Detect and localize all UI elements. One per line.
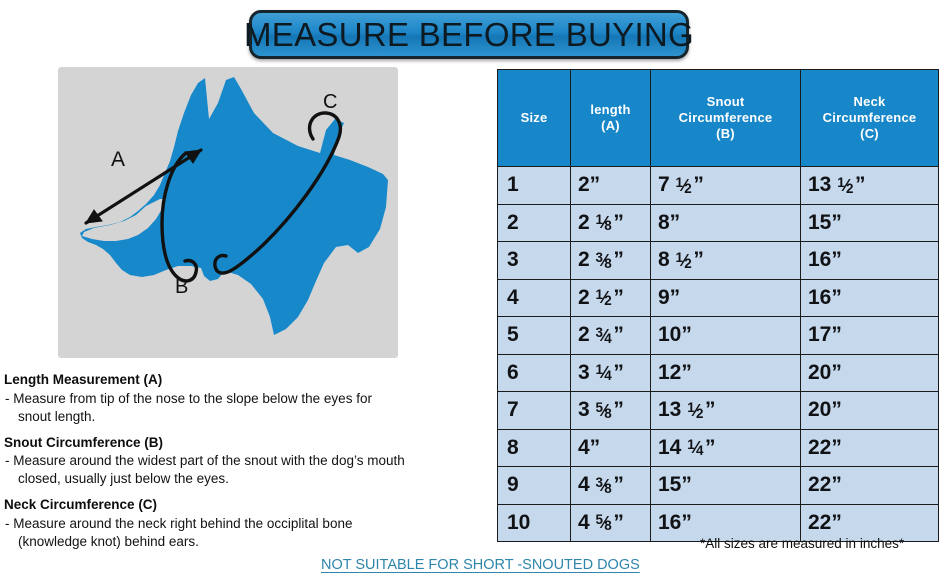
cell-length: 4”: [571, 429, 651, 467]
cell-length: 3 1⁄4”: [571, 354, 651, 392]
table-row: 84”14 1⁄4”22”: [498, 429, 939, 467]
header-line: (A): [601, 118, 620, 133]
cell-length: 2 1⁄2”: [571, 279, 651, 317]
cell-neck-circumference: 13 1⁄2”: [801, 167, 939, 205]
column-header-snout-circumference: Snout Circumference (B): [651, 70, 801, 167]
page-title: MEASURE BEFORE BUYING: [244, 16, 694, 54]
header-line: (C): [860, 126, 879, 141]
column-header-size: Size: [498, 70, 571, 167]
table-row: 52 3⁄4”10”17”: [498, 317, 939, 355]
label-c-text: C: [323, 91, 337, 113]
instruction-line1-neck: - Measure around the neck right behind t…: [5, 516, 352, 531]
cell-size: 7: [498, 392, 571, 430]
instruction-title-length: Length Measurement (A): [4, 372, 484, 389]
cell-length: 2”: [571, 167, 651, 205]
cell-length: 2 3⁄4”: [571, 317, 651, 355]
cell-size: 1: [498, 167, 571, 205]
instruction-body-neck: - Measure around the neck right behind t…: [4, 515, 484, 551]
cell-length: 2 3⁄8”: [571, 242, 651, 280]
header-line: Neck: [854, 94, 886, 109]
cell-neck-circumference: 16”: [801, 242, 939, 280]
cell-snout-circumference: 8”: [651, 204, 801, 242]
cell-neck-circumference: 22”: [801, 429, 939, 467]
table-row: 73 5⁄8”13 1⁄2”20”: [498, 392, 939, 430]
table-row: 63 1⁄4”12”20”: [498, 354, 939, 392]
instruction-line1-snout: - Measure around the widest part of the …: [5, 453, 405, 468]
dog-head-diagram-svg: A B C: [58, 67, 398, 358]
cell-size: 8: [498, 429, 571, 467]
size-chart-table: Size length (A) Snout Circumference (B) …: [497, 69, 939, 542]
cell-neck-circumference: 22”: [801, 467, 939, 505]
cell-size: 5: [498, 317, 571, 355]
all-sizes-inches-note: *All sizes are measured in inches*: [700, 536, 904, 551]
table-row: 12”7 1⁄2”13 1⁄2”: [498, 167, 939, 205]
cell-length: 4 5⁄8”: [571, 504, 651, 542]
dog-head-silhouette: [80, 77, 388, 335]
header-line: Snout: [707, 94, 745, 109]
cell-snout-circumference: 13 1⁄2”: [651, 392, 801, 430]
cell-neck-circumference: 20”: [801, 354, 939, 392]
cell-size: 10: [498, 504, 571, 542]
measurement-instructions: Length Measurement (A) - Measure from ti…: [4, 372, 484, 560]
cell-neck-circumference: 20”: [801, 392, 939, 430]
instruction-line1-length: - Measure from tip of the nose to the sl…: [5, 391, 372, 406]
cell-length: 3 5⁄8”: [571, 392, 651, 430]
cell-snout-circumference: 14 1⁄4”: [651, 429, 801, 467]
cell-length: 2 1⁄8”: [571, 204, 651, 242]
table-header-row: Size length (A) Snout Circumference (B) …: [498, 70, 939, 167]
label-b-text: B: [175, 276, 188, 298]
table-row: 94 3⁄8”15”22”: [498, 467, 939, 505]
column-header-neck-circumference: Neck Circumference (C): [801, 70, 939, 167]
instruction-block-length: Length Measurement (A) - Measure from ti…: [4, 372, 484, 426]
cell-size: 2: [498, 204, 571, 242]
header-line: length: [590, 102, 630, 117]
header-line: Circumference: [679, 110, 773, 125]
header-line: (B): [716, 126, 735, 141]
not-suitable-link[interactable]: NOT SUITABLE FOR SHORT -SNOUTED DOGS: [321, 557, 640, 573]
cell-snout-circumference: 8 1⁄2”: [651, 242, 801, 280]
cell-snout-circumference: 7 1⁄2”: [651, 167, 801, 205]
cell-neck-circumference: 15”: [801, 204, 939, 242]
instruction-line2-length: snout length.: [6, 408, 484, 426]
table-row: 32 3⁄8”8 1⁄2”16”: [498, 242, 939, 280]
dog-illustration-panel: A B C: [58, 67, 398, 358]
cell-size: 3: [498, 242, 571, 280]
label-a-text: A: [111, 148, 125, 171]
header-line: Circumference: [823, 110, 917, 125]
instruction-body-snout: - Measure around the widest part of the …: [4, 452, 484, 488]
instruction-title-neck: Neck Circumference (C): [4, 497, 484, 514]
cell-size: 6: [498, 354, 571, 392]
cell-length: 4 3⁄8”: [571, 467, 651, 505]
size-chart-body: 12”7 1⁄2”13 1⁄2”22 1⁄8”8”15”32 3⁄8”8 1⁄2…: [498, 167, 939, 542]
cell-snout-circumference: 9”: [651, 279, 801, 317]
table-row: 22 1⁄8”8”15”: [498, 204, 939, 242]
table-row: 42 1⁄2”9”16”: [498, 279, 939, 317]
size-chart-header: Size length (A) Snout Circumference (B) …: [498, 70, 939, 167]
cell-size: 4: [498, 279, 571, 317]
instruction-line2-neck: (knowledge knot) behind ears.: [6, 533, 484, 551]
title-banner: MEASURE BEFORE BUYING: [249, 10, 689, 59]
cell-snout-circumference: 12”: [651, 354, 801, 392]
instruction-block-neck: Neck Circumference (C) - Measure around …: [4, 497, 484, 551]
instruction-title-snout: Snout Circumference (B): [4, 435, 484, 452]
cell-neck-circumference: 17”: [801, 317, 939, 355]
cell-neck-circumference: 16”: [801, 279, 939, 317]
instruction-line2-snout: closed, usually just below the eyes.: [6, 470, 484, 488]
header-line: Size: [521, 110, 548, 125]
cell-snout-circumference: 15”: [651, 467, 801, 505]
column-header-length: length (A): [571, 70, 651, 167]
cell-size: 9: [498, 467, 571, 505]
instruction-body-length: - Measure from tip of the nose to the sl…: [4, 390, 484, 426]
cell-snout-circumference: 10”: [651, 317, 801, 355]
instruction-block-snout: Snout Circumference (B) - Measure around…: [4, 435, 484, 489]
